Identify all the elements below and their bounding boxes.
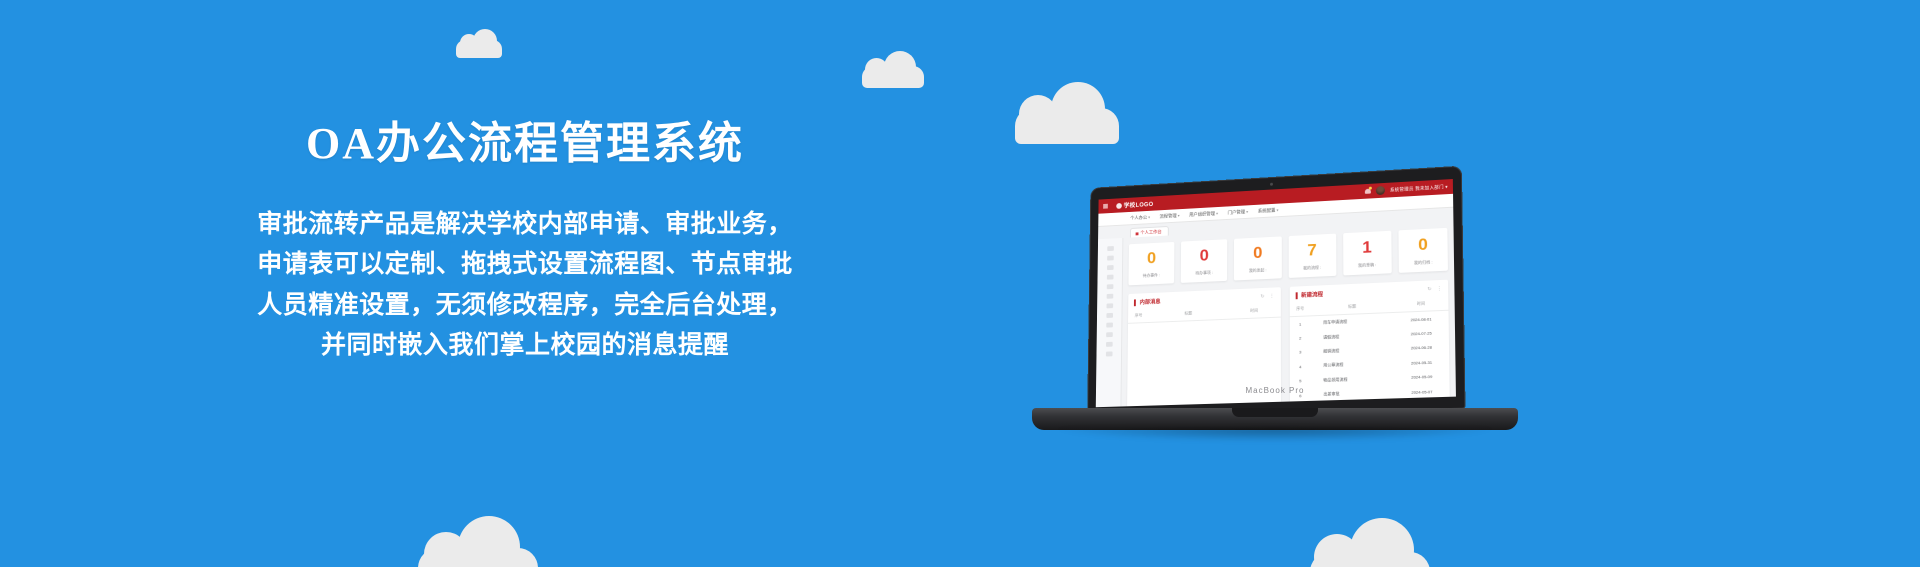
banner-copy: OA办公流程管理系统 审批流转产品是解决学校内部申请、审批业务， 申请表可以定制… [130,118,920,367]
cloud-bottom-right [1310,552,1430,567]
sidebar-item[interactable] [1106,323,1113,328]
menu-item-system-config[interactable]: 系统配置 [1258,207,1279,214]
sidebar-item[interactable] [1106,303,1113,308]
menu-item-user-org-management[interactable]: 用户组织管理 [1189,210,1218,217]
brand-label: 学校LOGO [1124,199,1154,209]
sidebar-item[interactable] [1106,284,1113,289]
stat-value: 0 [1234,243,1281,262]
laptop-base [1032,408,1518,430]
panel-actions: ↻ ⋮ [1427,286,1442,293]
panel-title: 内部消息 [1140,297,1161,306]
row-index: 7 [1289,402,1311,406]
user-name-label[interactable]: 系统管理员 我未加入部门 ▾ [1390,184,1448,193]
sidebar-item[interactable] [1105,351,1112,356]
laptop-screen: 学校LOGO 系统管理员 我未加入部门 ▾ 个人办公 流程管理 用户组织管理 [1096,179,1456,407]
description-line-2: 申请表可以定制、拖拽式设置流程图、节点审批 [130,245,920,286]
banner-description: 审批流转产品是解决学校内部申请、审批业务， 申请表可以定制、拖拽式设置流程图、节… [130,205,920,367]
sidebar-item[interactable] [1106,313,1113,318]
dashboard-icon [1136,232,1139,235]
stat-value: 0 [1129,249,1175,268]
stat-label: 待办事项 : [1181,269,1227,277]
avatar[interactable] [1376,186,1385,195]
column-header-index: 序号 [1128,309,1149,323]
row-title[interactable]: 维修工单审批流程 [1311,400,1394,407]
notification-badge [1369,187,1372,190]
stat-card[interactable]: 0 我的发起 : [1234,236,1281,280]
stat-value: 7 [1288,240,1336,259]
sidebar-item[interactable] [1107,265,1114,270]
stat-label: 我的归档 : [1399,259,1448,267]
hamburger-icon[interactable] [1103,204,1108,209]
stat-card[interactable]: 0 待办事项 : [1181,239,1228,283]
sidebar-item[interactable] [1106,294,1113,299]
cloud-top-mid [862,66,924,88]
app-brand: 学校LOGO [1116,199,1153,210]
notification-bell-icon[interactable] [1365,188,1371,195]
cloud-top-left [456,40,502,58]
menu-item-personal-office[interactable]: 个人办公 [1130,214,1150,221]
menu-item-process-management[interactable]: 流程管理 [1160,212,1180,219]
page-title: OA办公流程管理系统 [130,118,920,171]
stat-card-row: 0 待办事件 : 0 待办事项 : 0 我的发起 : [1128,228,1447,286]
app-content: 0 待办事件 : 0 待办事项 : 0 我的发起 : [1121,221,1456,407]
more-icon[interactable]: ⋮ [1270,293,1275,299]
laptop-mockup: 学校LOGO 系统管理员 我未加入部门 ▾ 个人办公 流程管理 用户组织管理 [1030,140,1520,460]
stat-card[interactable]: 0 待办事件 : [1128,242,1174,285]
cloud-bottom-left [418,548,538,567]
webcam-icon [1270,183,1273,186]
stat-card[interactable]: 0 我的归档 : [1398,228,1448,273]
sidebar-item[interactable] [1106,275,1113,280]
refresh-icon[interactable]: ↻ [1427,286,1431,292]
app-workarea: 0 待办事件 : 0 待办事项 : 0 我的发起 : [1096,221,1456,408]
panel-title: 新建流程 [1301,290,1323,299]
column-header-index: 序号 [1289,303,1311,317]
description-line-1: 审批流转产品是解决学校内部申请、审批业务， [130,205,920,246]
row-date: 2024-05-07 [1394,398,1449,406]
laptop-lid: 学校LOGO 系统管理员 我未加入部门 ▾ 个人办公 流程管理 用户组织管理 [1087,166,1465,419]
sidebar-item[interactable] [1107,246,1114,251]
stat-card[interactable]: 7 我的流程 : [1288,234,1336,278]
stat-label: 我的发起 : [1234,267,1281,275]
panel-actions: ↻ ⋮ [1260,293,1274,299]
laptop-shadow [1052,428,1498,442]
row-index: 4 [1289,359,1311,374]
description-line-3: 人员精准设置，无须修改程序，完全后台处理， [130,286,920,327]
stat-value: 1 [1343,238,1392,257]
stat-value: 0 [1181,246,1227,265]
more-icon[interactable]: ⋮ [1437,286,1442,292]
menu-item-portal-management[interactable]: 门户管理 [1228,209,1248,216]
refresh-icon[interactable]: ↻ [1260,294,1264,300]
stat-label: 我的草稿 : [1343,261,1392,269]
stat-card[interactable]: 1 我的草稿 : [1343,231,1392,276]
accent-bar-icon [1134,299,1136,306]
school-badge-icon [1116,202,1122,208]
sidebar-item[interactable] [1106,332,1113,337]
row-index: 2 [1289,331,1311,346]
accent-bar-icon [1295,292,1297,299]
stat-label: 我的流程 : [1288,264,1336,272]
row-index: 1 [1289,316,1311,332]
stat-label: 待办事件 : [1129,272,1175,280]
stat-value: 0 [1398,235,1447,254]
row-index: 3 [1289,345,1311,360]
sidebar-item[interactable] [1106,342,1113,347]
description-line-4: 并同时嵌入我们掌上校园的消息提醒 [130,326,920,367]
cloud-top-right [1015,108,1119,144]
sidebar-item[interactable] [1107,256,1114,261]
app-sidebar [1096,238,1124,407]
promo-banner: OA办公流程管理系统 审批流转产品是解决学校内部申请、审批业务， 申请表可以定制… [0,0,1920,567]
laptop-model-label: MacBook Pro [1030,386,1520,395]
